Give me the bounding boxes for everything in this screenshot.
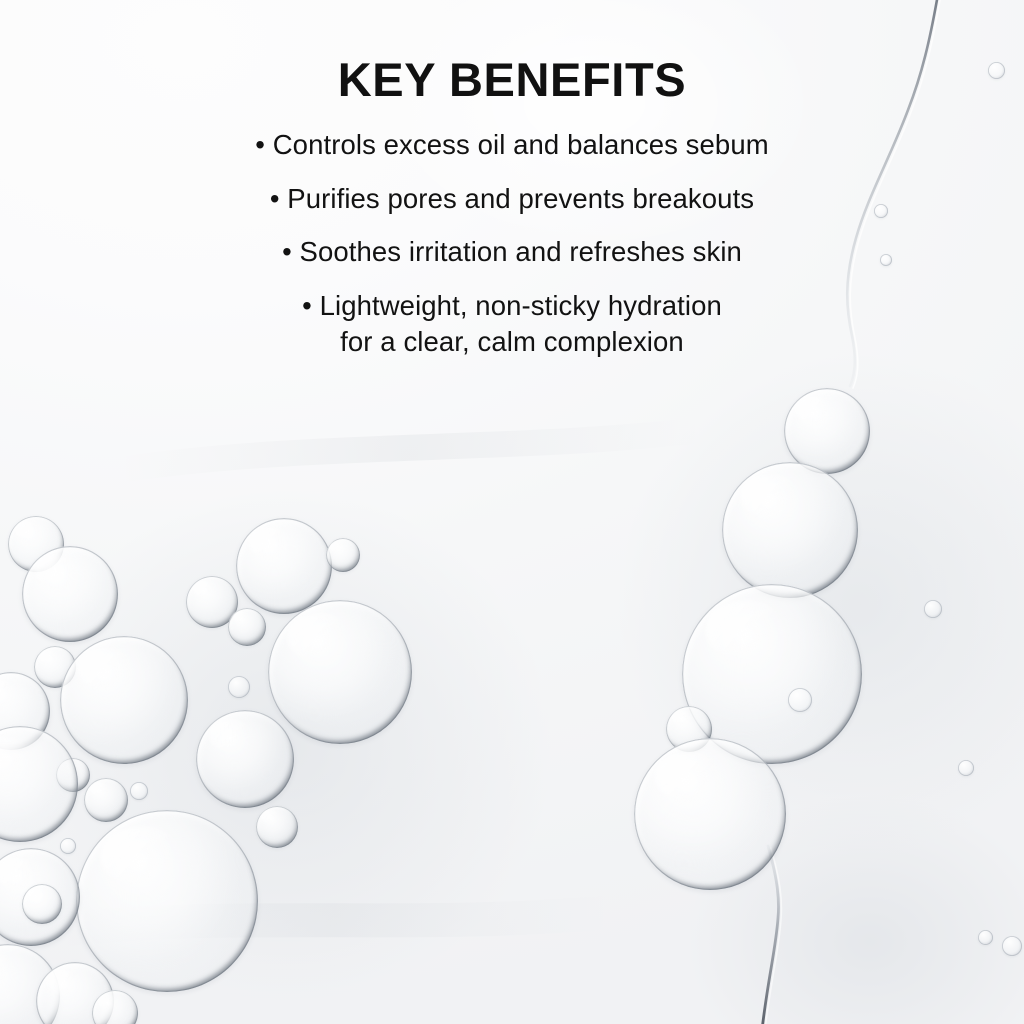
- bubble: [784, 388, 870, 474]
- benefits-list: • Controls excess oil and balances sebum…: [0, 127, 1024, 360]
- benefit-item-4: • Lightweight, non-sticky hydration for …: [0, 288, 1024, 360]
- bubble: [722, 462, 858, 598]
- droplet: [958, 760, 974, 776]
- bubble: [196, 710, 294, 808]
- benefit-item-2: • Purifies pores and prevents breakouts: [0, 181, 1024, 217]
- bubble: [256, 806, 298, 848]
- bubble: [228, 676, 250, 698]
- droplet: [978, 930, 993, 945]
- bubble: [228, 608, 266, 646]
- bubble: [84, 778, 128, 822]
- bubble: [0, 726, 78, 842]
- benefit-item-1: • Controls excess oil and balances sebum: [0, 127, 1024, 163]
- bubble: [22, 546, 118, 642]
- droplet: [1002, 936, 1022, 956]
- page-title: KEY BENEFITS: [0, 0, 1024, 105]
- product-benefits-graphic: KEY BENEFITS • Controls excess oil and b…: [0, 0, 1024, 1024]
- bubble: [268, 600, 412, 744]
- bubble: [60, 636, 188, 764]
- droplet: [924, 600, 942, 618]
- benefits-text-block: KEY BENEFITS • Controls excess oil and b…: [0, 0, 1024, 360]
- bubble: [22, 884, 62, 924]
- bubble: [236, 518, 332, 614]
- benefit-item-3: • Soothes irritation and refreshes skin: [0, 234, 1024, 270]
- bubble: [76, 810, 258, 992]
- bubble: [326, 538, 360, 572]
- bubble: [634, 738, 786, 890]
- bubble: [92, 990, 138, 1024]
- bubble: [60, 838, 76, 854]
- bubble: [130, 782, 148, 800]
- bubble: [788, 688, 812, 712]
